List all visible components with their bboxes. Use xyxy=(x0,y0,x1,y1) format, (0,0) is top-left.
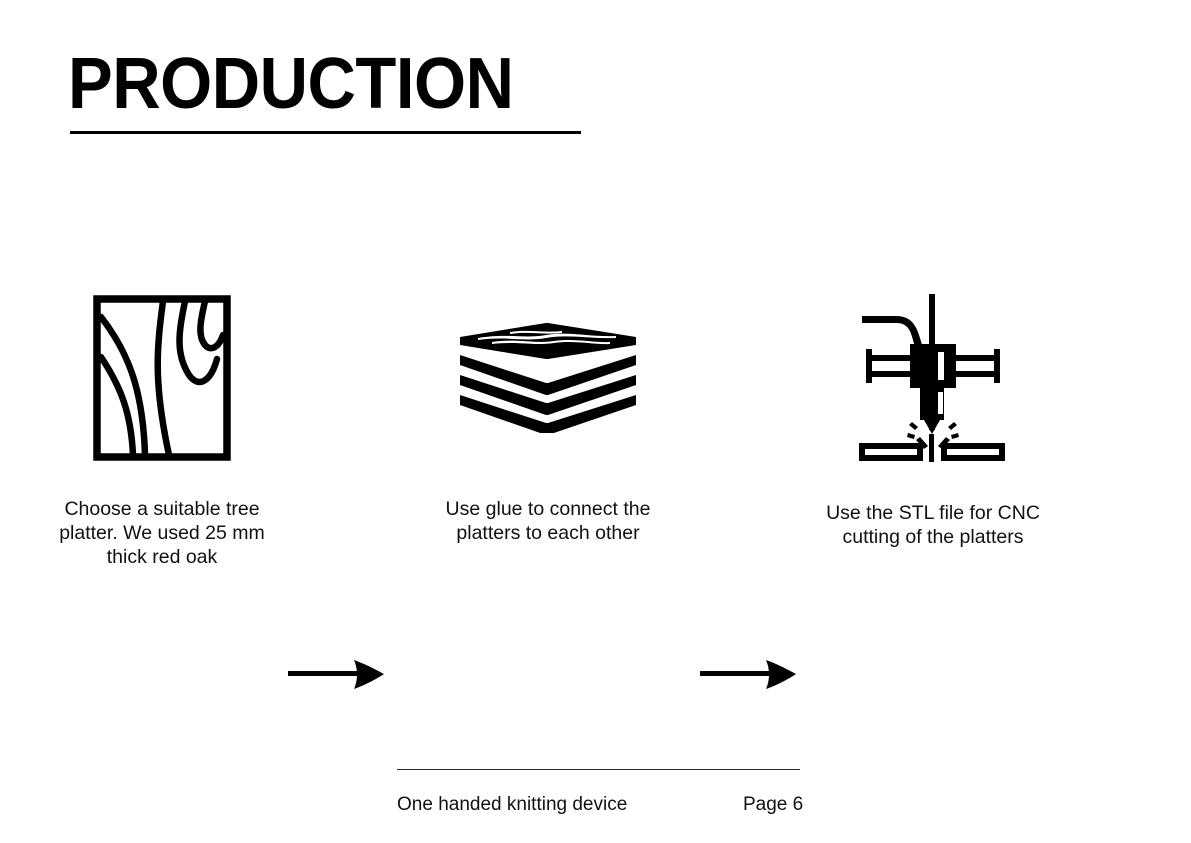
stacked-wood-boards-icon xyxy=(458,290,638,465)
step-3: Use the STL file for CNC cutting of the … xyxy=(783,290,1083,549)
production-steps-row: Choose a suitable tree platter. We used … xyxy=(0,290,1191,590)
cnc-machine-icon xyxy=(858,290,1008,465)
wood-plank-grain-icon xyxy=(93,290,231,465)
arrow-right-2-icon xyxy=(700,658,798,697)
step-3-caption: Use the STL file for CNC cutting of the … xyxy=(798,501,1068,549)
step-2: Use glue to connect the platters to each… xyxy=(398,290,698,545)
footer-divider-rule xyxy=(397,769,800,770)
step-2-caption: Use glue to connect the platters to each… xyxy=(413,497,683,545)
step-1-caption: Choose a suitable tree platter. We used … xyxy=(52,497,272,569)
arrow-right-1-icon xyxy=(288,658,386,697)
title-underline-rule xyxy=(70,131,581,134)
page-title: PRODUCTION xyxy=(68,44,513,124)
step-1: Choose a suitable tree platter. We used … xyxy=(12,290,312,569)
footer-page-number: Page 6 xyxy=(743,793,803,817)
footer-document-title: One handed knitting device xyxy=(397,793,627,817)
